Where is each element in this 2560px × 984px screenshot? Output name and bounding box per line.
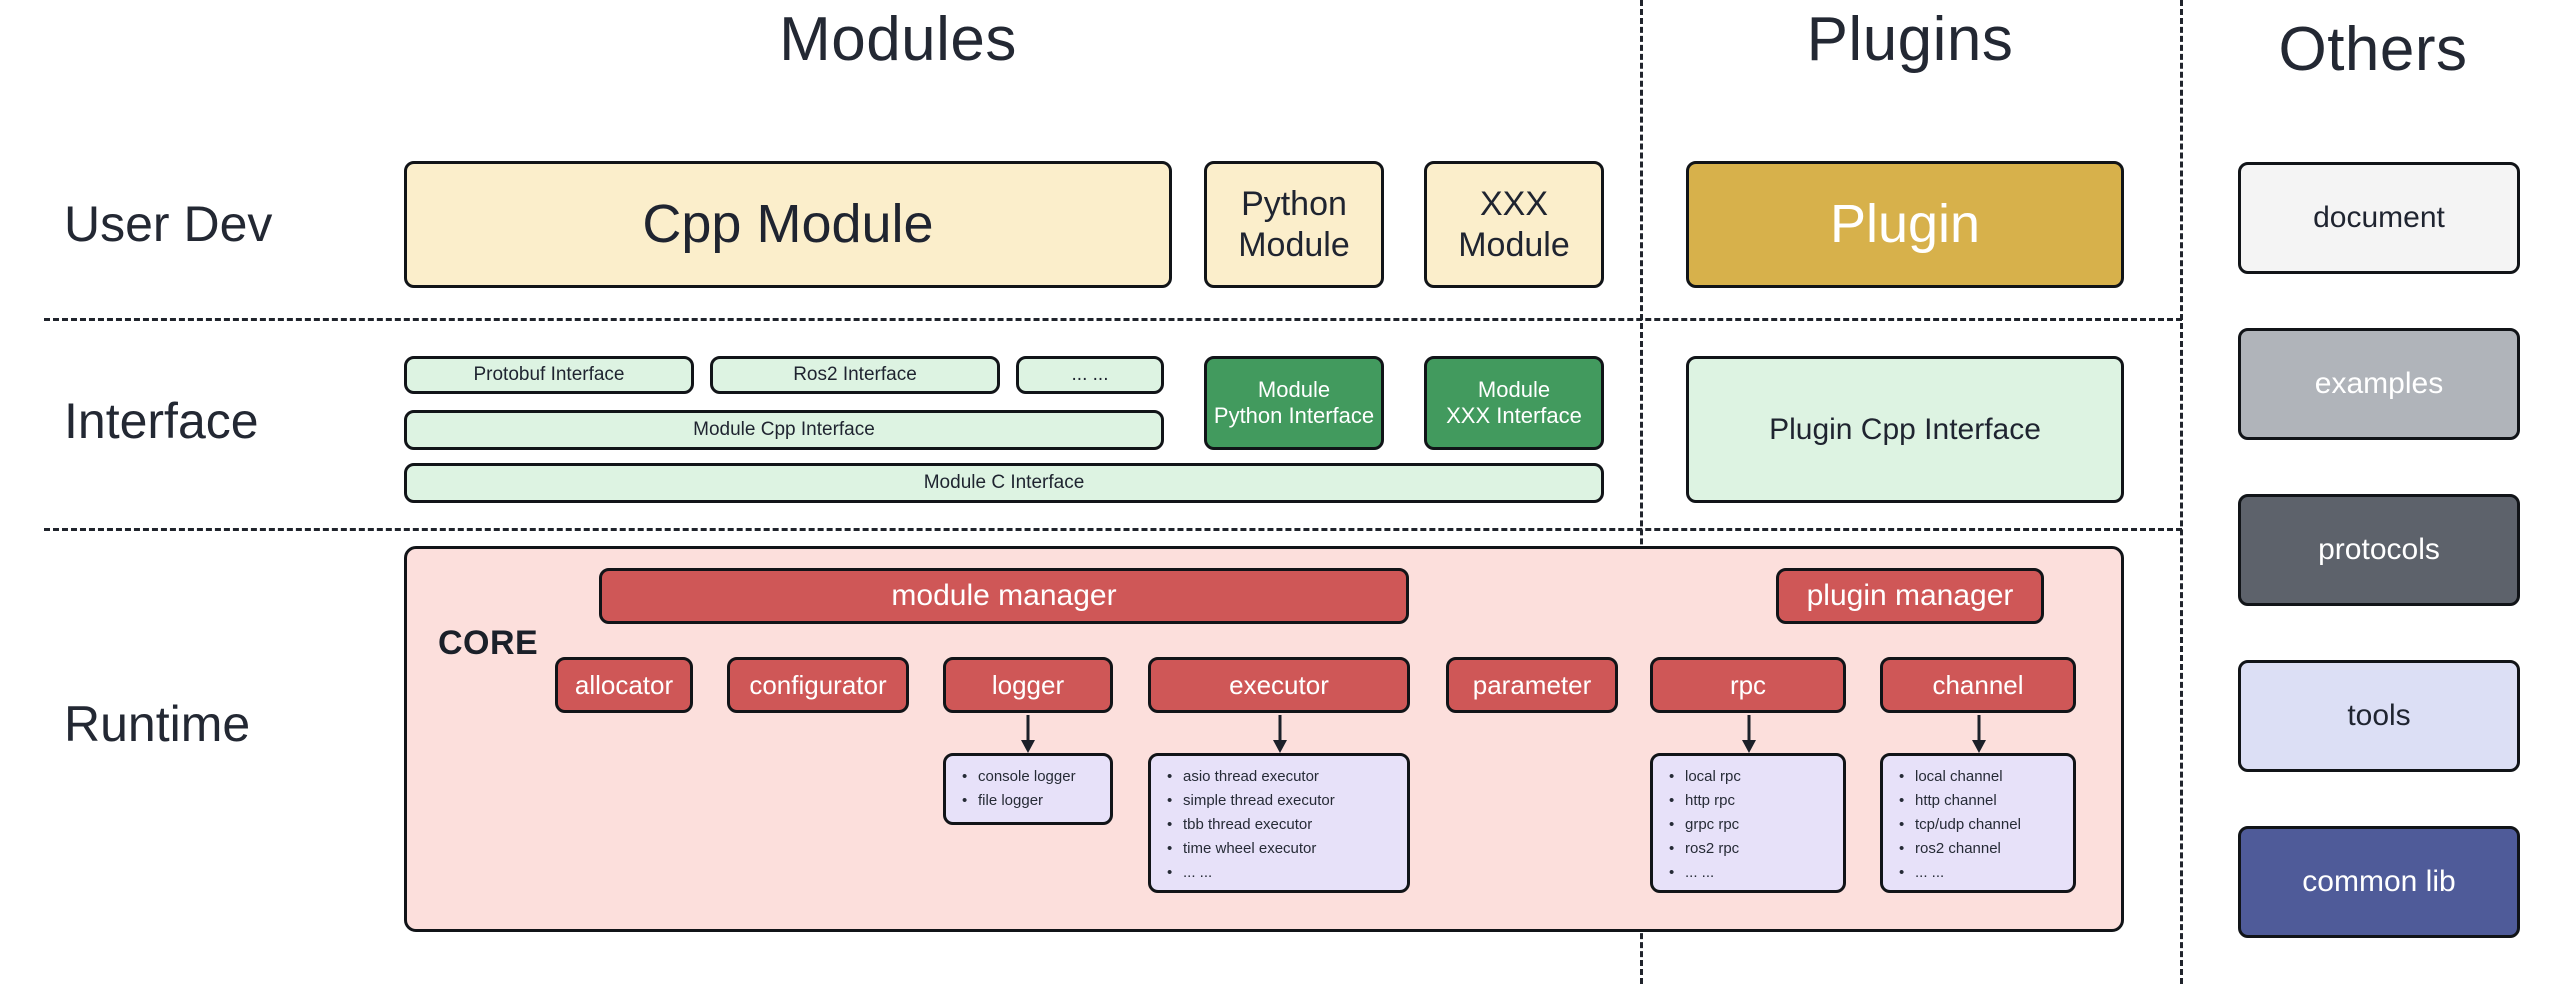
node-parameter[interactable]: parameter — [1446, 657, 1618, 713]
column-header-others: Others — [2208, 14, 2538, 85]
node-cpp-module[interactable]: Cpp Module — [404, 161, 1172, 288]
row-label-runtime: Runtime — [64, 695, 250, 753]
divider-userdev-interface — [44, 318, 2182, 321]
list-item: time wheel executor — [1183, 837, 1397, 861]
core-label: CORE — [438, 624, 538, 663]
node-configurator[interactable]: configurator — [727, 657, 909, 713]
details-executor[interactable]: asio thread executorsimple thread execut… — [1148, 753, 1410, 893]
column-header-plugins: Plugins — [1710, 4, 2110, 75]
node-module-cpp-interface[interactable]: Module Cpp Interface — [404, 410, 1164, 450]
node-python-module[interactable]: Python Module — [1204, 161, 1384, 288]
list-item: tcp/udp channel — [1915, 813, 2063, 837]
node-protobuf-interface[interactable]: Protobuf Interface — [404, 356, 694, 394]
list-item: http rpc — [1685, 789, 1833, 813]
node-plugin-cpp-interface[interactable]: Plugin Cpp Interface — [1686, 356, 2124, 503]
node-ros2-interface[interactable]: Ros2 Interface — [710, 356, 1000, 394]
details-channel[interactable]: local channelhttp channeltcp/udp channel… — [1880, 753, 2076, 893]
divider-plugins-others — [2180, 0, 2183, 984]
arrow-executor-down — [1267, 715, 1293, 753]
list-item: grpc rpc — [1685, 813, 1833, 837]
node-executor[interactable]: executor — [1148, 657, 1410, 713]
column-header-modules: Modules — [708, 4, 1088, 75]
divider-interface-runtime — [44, 528, 2182, 531]
row-label-interface: Interface — [64, 392, 259, 450]
details-executor-list: asio thread executorsimple thread execut… — [1163, 765, 1397, 885]
list-item: simple thread executor — [1183, 789, 1397, 813]
list-item: ... ... — [1915, 861, 2063, 885]
details-rpc[interactable]: local rpchttp rpcgrpc rpcros2 rpc... ... — [1650, 753, 1846, 893]
architecture-diagram: Modules Plugins Others User Dev Interfac… — [0, 0, 2560, 984]
arrow-logger-down — [1015, 715, 1041, 753]
node-rpc[interactable]: rpc — [1650, 657, 1846, 713]
node-examples[interactable]: examples — [2238, 328, 2520, 440]
node-more-interface[interactable]: ... ... — [1016, 356, 1164, 394]
arrow-rpc-down — [1736, 715, 1762, 753]
list-item: http channel — [1915, 789, 2063, 813]
node-module-python-interface[interactable]: Module Python Interface — [1204, 356, 1384, 450]
node-plugin[interactable]: Plugin — [1686, 161, 2124, 288]
node-protocols[interactable]: protocols — [2238, 494, 2520, 606]
list-item: console logger — [978, 765, 1100, 789]
node-tools[interactable]: tools — [2238, 660, 2520, 772]
arrow-channel-down — [1966, 715, 1992, 753]
node-allocator[interactable]: allocator — [555, 657, 693, 713]
details-channel-list: local channelhttp channeltcp/udp channel… — [1895, 765, 2063, 885]
node-plugin-manager[interactable]: plugin manager — [1776, 568, 2044, 624]
node-channel[interactable]: channel — [1880, 657, 2076, 713]
list-item: file logger — [978, 789, 1100, 813]
list-item: local rpc — [1685, 765, 1833, 789]
list-item: ... ... — [1183, 861, 1397, 885]
node-logger[interactable]: logger — [943, 657, 1113, 713]
details-logger[interactable]: console loggerfile logger — [943, 753, 1113, 825]
node-document[interactable]: document — [2238, 162, 2520, 274]
row-label-user-dev: User Dev — [64, 195, 272, 253]
list-item: asio thread executor — [1183, 765, 1397, 789]
list-item: tbb thread executor — [1183, 813, 1397, 837]
list-item: local channel — [1915, 765, 2063, 789]
node-module-xxx-interface[interactable]: Module XXX Interface — [1424, 356, 1604, 450]
details-rpc-list: local rpchttp rpcgrpc rpcros2 rpc... ... — [1665, 765, 1833, 885]
list-item: ros2 channel — [1915, 837, 2063, 861]
details-logger-list: console loggerfile logger — [958, 765, 1100, 813]
list-item: ros2 rpc — [1685, 837, 1833, 861]
node-module-manager[interactable]: module manager — [599, 568, 1409, 624]
node-xxx-module[interactable]: XXX Module — [1424, 161, 1604, 288]
node-common-lib[interactable]: common lib — [2238, 826, 2520, 938]
node-module-c-interface[interactable]: Module C Interface — [404, 463, 1604, 503]
list-item: ... ... — [1685, 861, 1833, 885]
